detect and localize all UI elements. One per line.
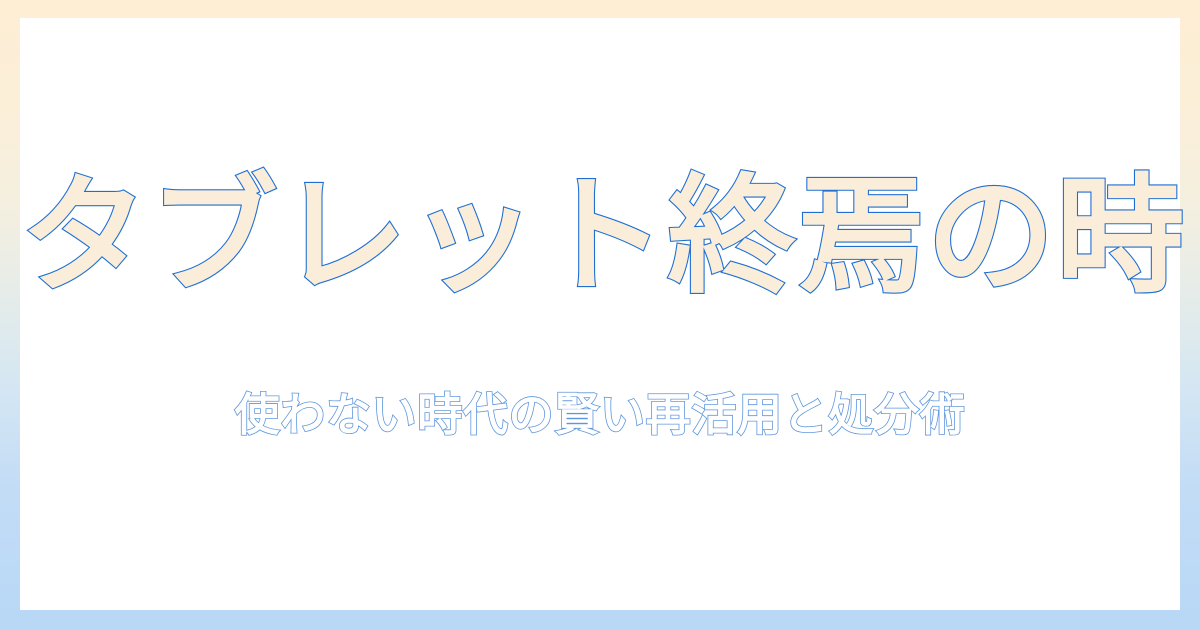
outer-gradient-frame: タブレット終焉の時 使わない時代の賢い再活用と処分術 xyxy=(0,0,1200,630)
content-card: タブレット終焉の時 使わない時代の賢い再活用と処分術 xyxy=(20,18,1180,610)
title-block: タブレット終焉の時 xyxy=(20,168,1180,306)
subtitle-block: 使わない時代の賢い再活用と処分術 xyxy=(20,390,1180,440)
page-title: タブレット終焉の時 xyxy=(20,168,1186,306)
page-subtitle: 使わない時代の賢い再活用と処分術 xyxy=(235,390,966,440)
